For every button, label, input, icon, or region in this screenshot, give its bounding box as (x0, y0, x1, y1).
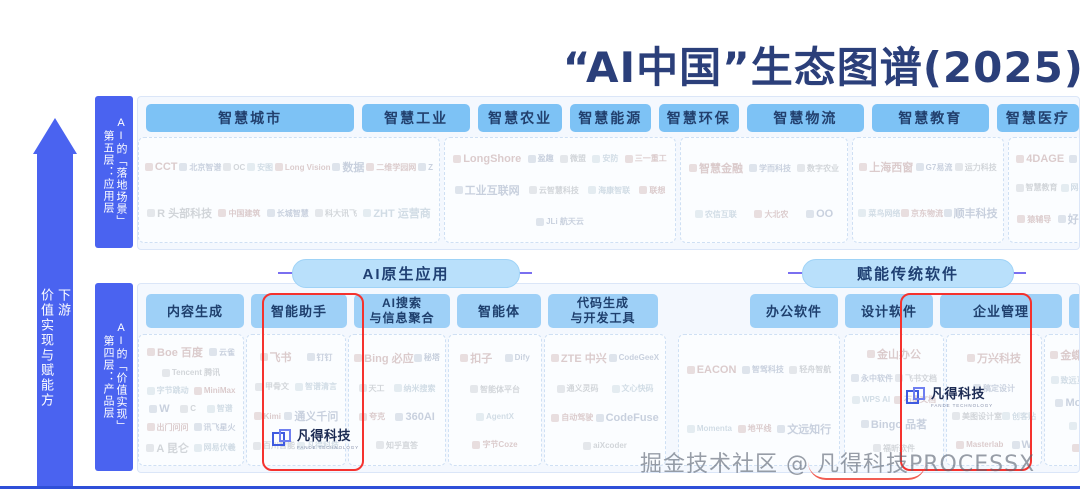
application-pane-3: 智慧金融学而科技数字农业农信互联大北农OO (680, 137, 848, 243)
ai-native-tab-3[interactable]: AI搜索 与信息聚合 (354, 294, 450, 328)
company-logo: W (149, 403, 169, 415)
company-logo: 知乎直答 (376, 440, 418, 451)
company-logo: 运力科技 (955, 159, 997, 175)
company-logo: 智能体平台 (470, 384, 520, 395)
ai-native-tab-5[interactable]: 代码生成 与开发工具 (548, 294, 658, 328)
company-logo: 飞书 (260, 349, 292, 365)
traditional-software-tab-3[interactable]: 企业管理 (940, 294, 1062, 328)
product-pane-9: 金蝶用友浪潮致远互联泛微网络Moka北森DIFUSION凡得科技 (1044, 334, 1080, 466)
logo-grid: 智慧金融学而科技数字农业农信互联大北农OO (681, 138, 847, 242)
company-logo: 好未来 (1058, 211, 1080, 227)
company-logo: AgentX (476, 412, 514, 421)
application-pane-4: 上海西窗G7易流运力科技菜鸟网络京东物流顺丰科技 (852, 137, 1004, 243)
company-logo: 创客贴 (1002, 411, 1036, 422)
company-logo: 纳米搜索 (394, 383, 436, 394)
company-logo: 字节跳动 (147, 385, 189, 396)
page-title: “AI中国”生态图谱(2025) (563, 34, 1080, 95)
company-logo: ZTE 中兴 (551, 350, 607, 366)
company-logo: 云雀 (209, 344, 235, 360)
company-logo: 扣子 (460, 350, 492, 366)
application-category-4[interactable]: 智慧能源 (570, 104, 650, 132)
logo-grid: 金蝶用友浪潮致远互联泛微网络Moka北森DIFUSION凡得科技 (1045, 335, 1080, 465)
application-category-7[interactable]: 智慧教育 (872, 104, 989, 132)
company-logo: 二维学园网 (366, 159, 416, 175)
logo-grid: Boe 百度云雀Tencent 腾讯字节跳动MiniMaxWC智谱出门问问讯飞星… (139, 335, 243, 465)
company-logo: 永中软件 (851, 373, 893, 384)
traditional-software-tab-2[interactable]: 设计软件 (845, 294, 933, 328)
layer-5-label: AI的「落地场景」 第五层：应用层 (101, 117, 127, 227)
company-logo: 猿辅导 (1017, 211, 1051, 227)
company-logo: Kimi (254, 408, 281, 424)
company-logo: JLi 航天云 (536, 216, 584, 227)
company-logo: 云智慧科技 (529, 182, 579, 198)
company-logo: 京东物流 (901, 205, 943, 221)
company-logo: 中国建筑 (218, 205, 260, 221)
arrow-label-wrap: 下游 价值实现与赋能方 (37, 248, 73, 448)
arrow-label: 下游 价值实现与赋能方 (38, 288, 72, 408)
watermark-underline (808, 462, 926, 480)
company-logo: 轻舟智航 (789, 364, 831, 376)
company-logo: 出门问问 (147, 422, 189, 433)
company-logo: 网易有道 (1061, 182, 1080, 193)
company-logo: 钉钉 (307, 349, 333, 365)
fande-logo-text: 凡得科技 FANDE TECHNOLOGY (297, 428, 359, 451)
traditional-software-tab-row: 办公软件设计软件企业管理系统 与工具 (750, 294, 1080, 328)
logo-grid: 上海西窗G7易流运力科技菜鸟网络京东物流顺丰科技 (853, 138, 1003, 242)
company-logo: 美图设计室 (952, 411, 1002, 422)
company-logo: 字节Coze (472, 439, 517, 450)
company-logo: 安防 (592, 153, 618, 165)
company-logo: 秘塔 (414, 350, 440, 366)
company-logo: 金山办公 (867, 346, 921, 362)
logo-grid: CCT北京智谱OC安图Long Vision数据二维学园网ZR 头部科技中国建筑… (139, 138, 439, 242)
company-logo: 文远知行 (777, 421, 831, 437)
company-logo: Moka (1055, 397, 1080, 409)
company-logo: Bingo 品茗 (861, 416, 927, 432)
company-logo: 微盟 (560, 153, 586, 165)
company-logo: Long Vision (275, 159, 331, 175)
layer-application: AI的「落地场景」 第五层：应用层 智慧城市智慧工业智慧农业智慧能源智慧环保智慧… (95, 96, 1080, 248)
company-logo: 智驾科技 (742, 364, 784, 376)
company-logo: aiXcoder (583, 441, 627, 450)
company-logo: 顺丰科技 (944, 205, 998, 221)
company-logo: 智谱 (207, 403, 233, 415)
company-logo: 海康智联 (588, 182, 630, 198)
company-logo: 菜鸟网络 (858, 205, 900, 221)
company-logo: 安图 (247, 159, 273, 175)
company-logo: OC (223, 159, 245, 175)
company-logo: 夸克 (359, 411, 385, 423)
fande-name-cn: 凡得科技 (297, 428, 351, 443)
ai-native-tab-4[interactable]: 智能体 (457, 294, 541, 328)
company-logo: 科大讯飞 (315, 205, 357, 221)
application-category-row: 智慧城市智慧工业智慧农业智慧能源智慧环保智慧物流智慧教育智慧医疗 (146, 104, 1079, 132)
company-logo: LongShore (453, 153, 521, 165)
layer-5-label-bar: AI的「落地场景」 第五层：应用层 (95, 96, 133, 248)
layer-4-label: AI的「价值实现」 第四层：产品层 (101, 322, 127, 432)
company-logo: 万兴科技 (967, 350, 1021, 366)
company-logo: 数字农业 (797, 160, 839, 176)
application-category-5[interactable]: 智慧环保 (659, 104, 739, 132)
fande-mark-icon (272, 429, 292, 449)
traditional-software-tab-1[interactable]: 办公软件 (750, 294, 838, 328)
application-category-1[interactable]: 智慧城市 (146, 104, 354, 132)
company-logo: CodeFuse (596, 412, 659, 424)
ai-native-tab-2[interactable]: 智能助手 (251, 294, 347, 328)
company-logo: 大北农 (754, 208, 788, 220)
ecosystem-map-canvas: “AI中国”生态图谱(2025) 下游 价值实现与赋能方 AI的「落地场景」 第… (0, 0, 1080, 489)
company-logo: 通义千问 (284, 408, 338, 424)
company-logo: CCT (145, 159, 178, 175)
fande-name-cn: 凡得科技 (931, 386, 985, 401)
application-category-3[interactable]: 智慧农业 (478, 104, 562, 132)
company-logo: 天工 (359, 383, 385, 394)
company-logo: Boe 百度 (147, 344, 203, 360)
company-logo: AOTO (1069, 153, 1080, 165)
company-logo: MiniMax (194, 385, 236, 396)
fande-logo-text: 凡得科技 FANDE TECHNOLOGY (931, 386, 993, 409)
layer-4-label-bar: AI的「价值实现」 第四层：产品层 (95, 283, 133, 471)
company-logo: 地平线 (738, 421, 772, 437)
company-logo: 农信互联 (695, 208, 737, 220)
product-pane-1: Boe 百度云雀Tencent 腾讯字节跳动MiniMaxWC智谱出门问问讯飞星… (138, 334, 244, 466)
company-logo: 网易伏羲 (194, 440, 236, 456)
application-category-6[interactable]: 智慧物流 (747, 104, 864, 132)
ai-native-tab-1[interactable]: 内容生成 (146, 294, 244, 328)
company-logo: WPS AI (852, 394, 890, 405)
company-logo: 智慧教育 (1016, 182, 1058, 193)
application-category-2[interactable]: 智慧工业 (362, 104, 470, 132)
ai-native-tab-row: 内容生成智能助手AI搜索 与信息聚合智能体代码生成 与开发工具 (146, 294, 658, 328)
product-pane-4: 扣子Dify智能体平台AgentX字节Coze (448, 334, 542, 466)
company-logo: 学而科技 (749, 160, 791, 176)
company-logo: G7易流 (916, 159, 953, 175)
company-logo: R 头部科技 (147, 205, 212, 221)
company-logo: 长城智慧 (267, 205, 309, 221)
company-logo: 工业互联网 (455, 182, 520, 198)
arrow-head-icon (33, 118, 77, 154)
fande-logo-smart-assistant: 凡得科技 FANDE TECHNOLOGY (272, 428, 359, 451)
section-banner-1: AI原生应用 (292, 259, 520, 288)
logo-grid: LongShore盈趣微盟安防三一重工工业互联网云智慧科技海康智联联想JLi 航… (445, 138, 675, 242)
company-logo: C (180, 403, 196, 415)
layer-product: AI的「价值实现」 第四层：产品层 内容生成智能助手AI搜索 与信息聚合智能体代… (95, 283, 1080, 471)
application-pane-1: CCT北京智谱OC安图Long Vision数据二维学园网ZR 头部科技中国建筑… (138, 137, 440, 243)
company-logo: DIFUSION (1069, 421, 1080, 430)
company-logo: 凡得科技 (1072, 442, 1080, 453)
company-logo: 4DAGE (1016, 153, 1064, 165)
company-logo: Tencent 腾讯 (162, 367, 220, 378)
fande-name-en: FANDE TECHNOLOGY (297, 446, 359, 451)
traditional-software-tab-4[interactable]: 系统 与工具 (1069, 294, 1080, 328)
company-logo: 致远互联 (1051, 375, 1080, 386)
company-logo: ZHT 运营商 (363, 205, 430, 221)
company-logo: 三一重工 (625, 153, 667, 165)
company-logo: Momenta (687, 421, 732, 437)
company-logo: A 昆仑 (146, 440, 189, 456)
company-logo: 联想 (639, 182, 665, 198)
logo-grid: Bing 必应秘塔天工纳米搜索夸克360AI知乎直答 (349, 335, 445, 465)
company-logo: 讯飞星火 (194, 422, 236, 433)
company-logo: 智谱清言 (295, 381, 337, 392)
company-logo: Bing 必应 (354, 350, 414, 366)
company-logo: 盈趣 (528, 153, 554, 165)
company-logo: 金蝶 (1050, 347, 1080, 363)
company-logo: 智慧金融 (689, 160, 743, 176)
company-logo: OO (806, 208, 833, 220)
company-logo: Dify (505, 350, 530, 366)
application-pane-5: 4DAGEAOTO智慧教育网易有道猿辅导好未来 (1008, 137, 1080, 243)
company-logo: Z (418, 159, 433, 175)
company-logo: 北京智谱 (179, 159, 221, 175)
upstream-arrow: 下游 价值实现与赋能方 (33, 118, 77, 489)
company-logo: 文心快码 (612, 383, 654, 394)
logo-grid: 4DAGEAOTO智慧教育网易有道猿辅导好未来 (1009, 138, 1080, 242)
company-logo: 360AI (395, 411, 434, 423)
application-pane-2: LongShore盈趣微盟安防三一重工工业互联网云智慧科技海康智联联想JLi 航… (444, 137, 676, 243)
section-banner-2: 赋能传统软件 (802, 259, 1014, 288)
company-logo: 通义灵码 (557, 383, 599, 394)
layer-5-body: 智慧城市智慧工业智慧农业智慧能源智慧环保智慧物流智慧教育智慧医疗 CCT北京智谱… (137, 96, 1080, 250)
company-logo: 自动驾驶 (551, 412, 593, 424)
product-pane-3: Bing 必应秘塔天工纳米搜索夸克360AI知乎直答 (348, 334, 446, 466)
fande-logo-enterprise-management: 凡得科技 FANDE TECHNOLOGY (906, 386, 993, 409)
company-logo: CodeGeeX (609, 350, 659, 366)
fande-name-en: FANDE TECHNOLOGY (931, 404, 993, 409)
company-logo: 数据 (332, 159, 364, 175)
company-logo: EACON (687, 364, 737, 376)
fande-mark-icon (906, 387, 926, 407)
company-logo: 甲骨文 (255, 381, 289, 392)
company-logo: 飞书文档 (895, 373, 937, 384)
company-logo: 上海西窗 (859, 159, 913, 175)
application-category-8[interactable]: 智慧医疗 (997, 104, 1079, 132)
logo-grid: 扣子Dify智能体平台AgentX字节Coze (449, 335, 541, 465)
